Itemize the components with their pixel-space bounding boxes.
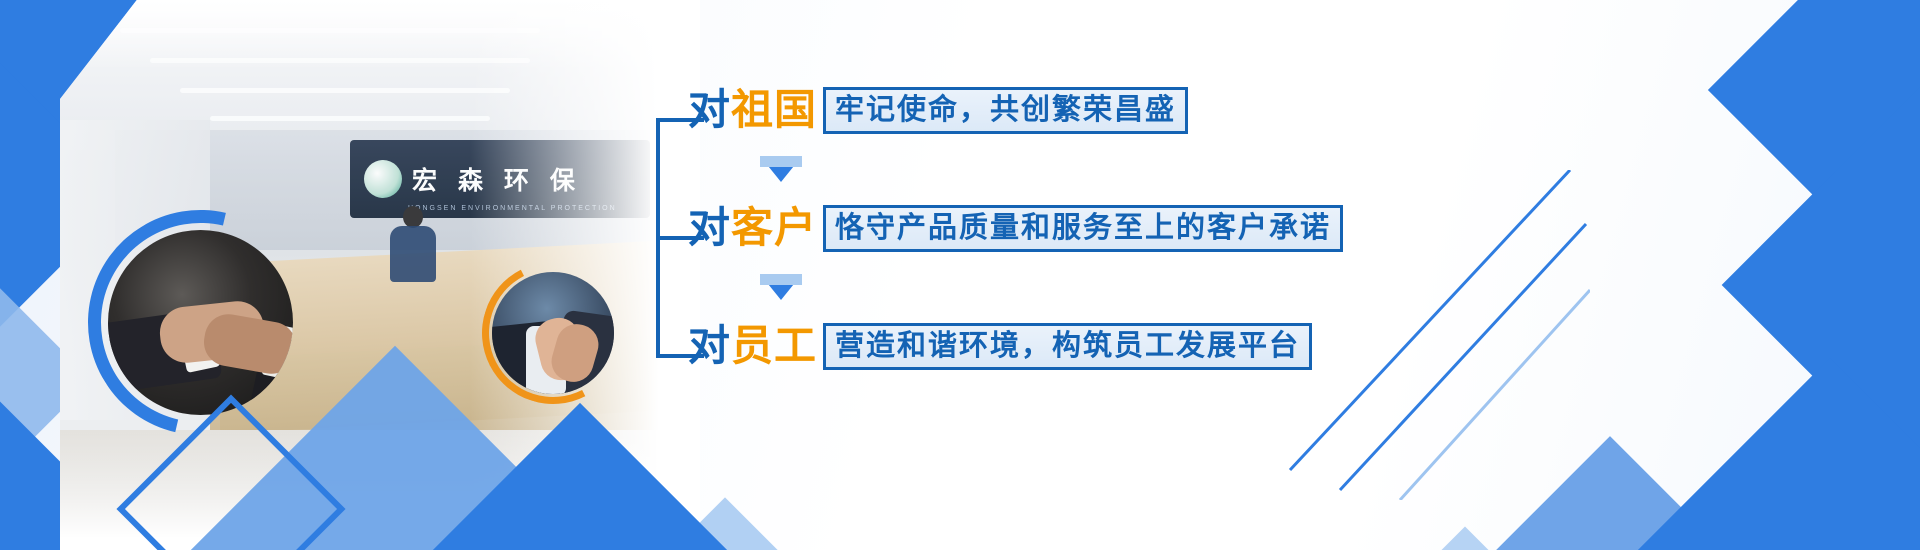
value-prefix: 对 [688,203,731,252]
value-row-customer: 对客户 恪守产品质量和服务至上的客户承诺 [688,200,1343,256]
reception-staff [390,206,436,280]
arrow-down-2 [688,256,1343,318]
value-subject: 客户 [731,203,817,252]
value-heading-country: 对祖国 [688,89,817,131]
staff-body [390,226,436,282]
staff-head [403,206,423,228]
ceiling-light [210,116,490,121]
value-row-country: 对祖国 牢记使命，共创繁荣昌盛 [688,82,1343,138]
arrow-down-icon [760,274,802,300]
value-heading-customer: 对客户 [688,207,817,249]
value-prefix: 对 [688,321,731,370]
value-subject: 员工 [731,321,817,370]
arrow-down-icon [760,156,802,182]
company-logo-icon [364,160,402,198]
value-statement-employee: 营造和谐环境，构筑员工发展平台 [823,323,1312,370]
arrow-down-1 [688,138,1343,200]
value-row-employee: 对员工 营造和谐环境，构筑员工发展平台 [688,318,1343,374]
value-subject: 祖国 [731,85,817,134]
value-heading-employee: 对员工 [688,325,817,367]
company-values-banner: 宏 森 环 保 HONGSEN ENVIRONMENTAL PROTECTION [0,0,1920,550]
values-rows: 对祖国 牢记使命，共创繁荣昌盛 对客户 恪守产品质量和服务至上的客户承诺 对员工 [688,82,1343,374]
value-prefix: 对 [688,85,731,134]
ceiling-light [180,88,510,93]
values-list: 对祖国 牢记使命，共创繁荣昌盛 对客户 恪守产品质量和服务至上的客户承诺 对员工 [648,0,1920,550]
value-statement-country: 牢记使命，共创繁荣昌盛 [823,87,1188,134]
value-statement-customer: 恪守产品质量和服务至上的客户承诺 [823,205,1343,252]
photo-fade-bottom [60,430,700,550]
